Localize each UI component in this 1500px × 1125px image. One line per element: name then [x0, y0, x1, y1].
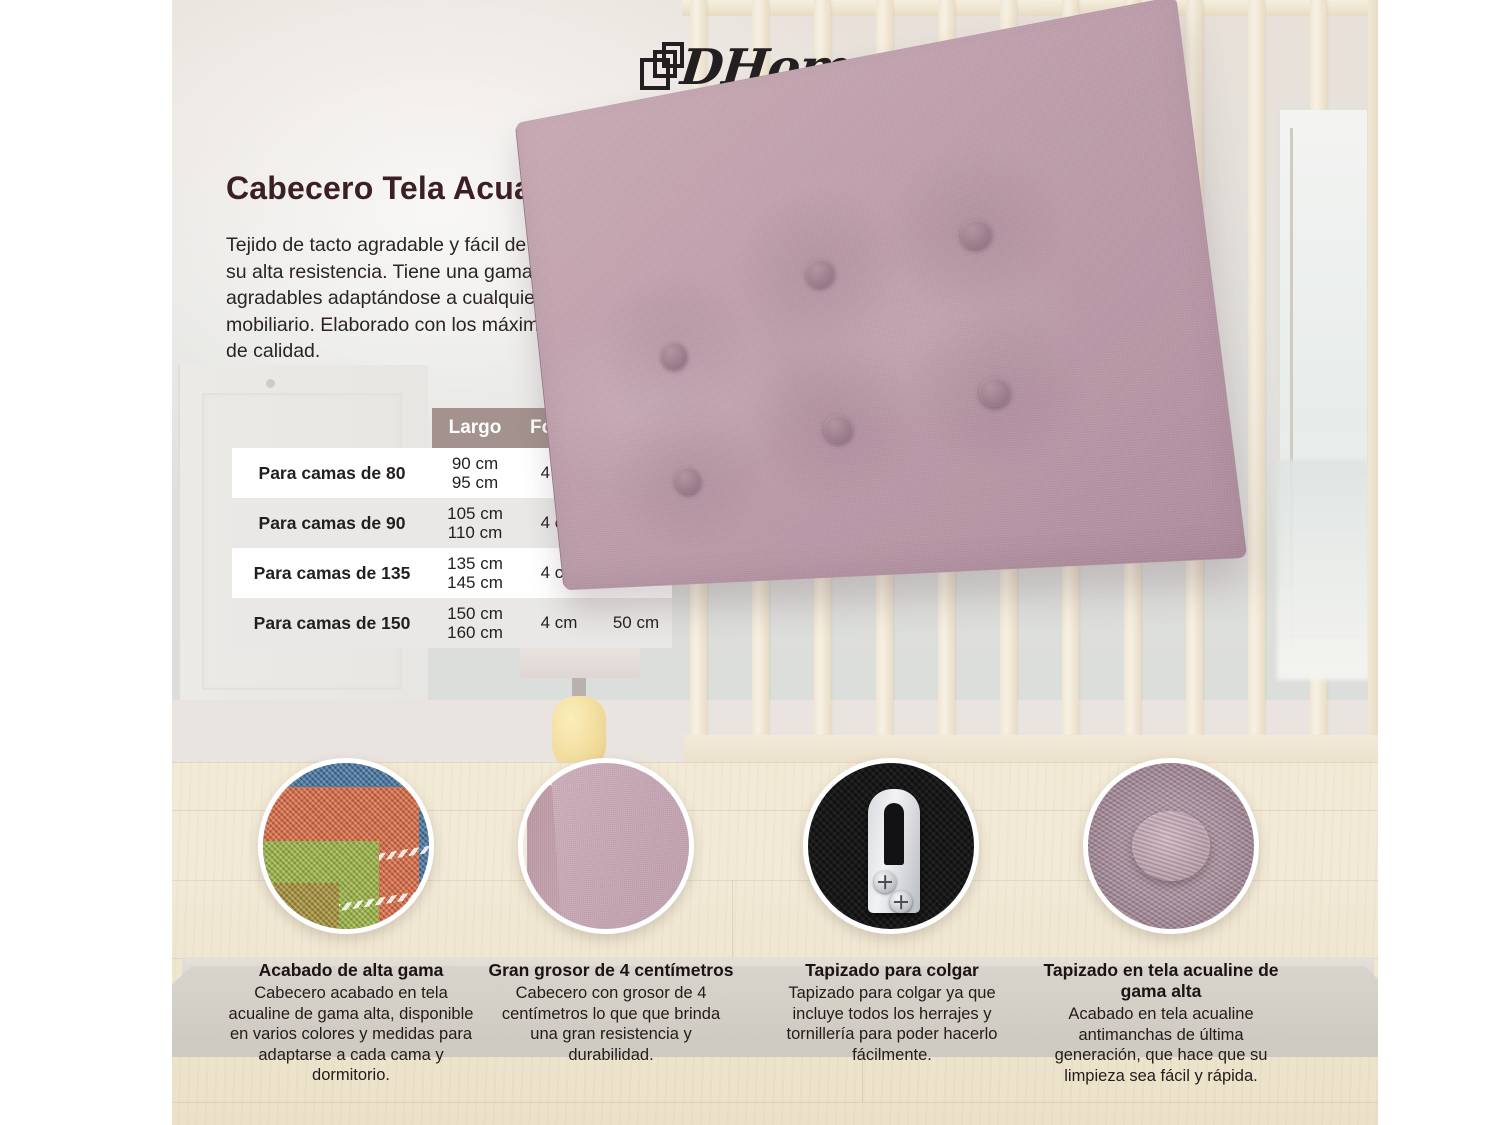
crib-slat: [1062, 0, 1079, 775]
largo-line-1: 90 cm: [452, 454, 498, 473]
column-header-largo: Largo: [432, 417, 518, 439]
crib-slat: [690, 0, 707, 775]
crib-slat: [938, 0, 955, 775]
thickness-corner-icon: [518, 758, 694, 934]
overlapping-squares-icon: [640, 42, 671, 92]
screw-icon: [890, 891, 912, 913]
cell-alto: 50 cm: [600, 513, 672, 533]
cell-fondo: 4 cm: [518, 613, 600, 633]
cell-largo: 90 cm 95 cm: [432, 454, 518, 492]
floor-plank-line: [172, 1102, 1378, 1103]
row-label: Para camas de 135: [232, 563, 432, 584]
crib-slat: [752, 0, 769, 775]
feature-text: Acabado en tela acualine antimanchas de …: [1035, 1004, 1287, 1086]
feature-title: Tapizado para colgar: [772, 960, 1012, 981]
largo-line-2: 160 cm: [447, 623, 503, 642]
door-knob-icon: [266, 379, 275, 388]
row-label: Para camas de 90: [232, 513, 432, 534]
largo-line-1: 135 cm: [447, 554, 503, 573]
floor-plank-seam: [732, 880, 733, 958]
crib-slat: [1124, 0, 1141, 775]
wall-bracket-icon: [803, 758, 979, 934]
feature-caption-3: Tapizado para colgar Tapizado para colga…: [772, 960, 1012, 1065]
column-header-fondo: Fondo: [518, 417, 600, 439]
row-label: Para camas de 80: [232, 463, 432, 484]
crib-rail: [682, 0, 1378, 16]
table-body: Para camas de 80 90 cm 95 cm 4 cm 50 cm …: [232, 448, 672, 648]
cell-alto: 50 cm: [600, 563, 672, 583]
feature-caption-1: Acabado de alta gama Cabecero acabado en…: [225, 960, 477, 1086]
cell-fondo: 4 cm: [518, 563, 600, 583]
largo-line-2: 145 cm: [447, 573, 503, 592]
page-title: Cabecero Tela Acualine: [226, 170, 588, 207]
brand-name: DHome: [678, 43, 883, 92]
feature-text: Tapizado para colgar ya que incluye todo…: [772, 983, 1012, 1065]
crib-slat: [1248, 0, 1265, 775]
cell-largo: 135 cm 145 cm: [432, 554, 518, 592]
table-row: Para camas de 135 135 cm 145 cm 4 cm 50 …: [232, 548, 672, 598]
swatch-olive: [258, 883, 339, 934]
metal-bracket: [868, 789, 920, 913]
largo-line-2: 95 cm: [452, 473, 498, 492]
feature-text: Cabecero con grosor de 4 centímetros lo …: [487, 983, 735, 1065]
crib-slats: [682, 0, 1378, 775]
background-kitchen-blur: [1277, 460, 1369, 680]
table-row: Para camas de 80 90 cm 95 cm 4 cm 50 cm: [232, 448, 672, 498]
table-row: Para camas de 90 105 cm 110 cm 4 cm 50 c…: [232, 498, 672, 548]
cell-largo: 150 cm 160 cm: [432, 604, 518, 642]
table-header-row: Largo Fondo Alto: [432, 408, 672, 448]
brand-logo: DHome: [640, 32, 880, 102]
largo-line-1: 150 cm: [447, 604, 503, 623]
feature-title: Acabado de alta gama: [225, 960, 477, 981]
crib-slat: [1186, 0, 1203, 775]
crib-slat: [814, 0, 831, 775]
table-row: Para camas de 150 150 cm 160 cm 4 cm 50 …: [232, 598, 672, 648]
feature-caption-4: Tapizado en tela acualine de gama alta A…: [1035, 960, 1287, 1086]
cell-fondo: 4 cm: [518, 463, 600, 483]
infographic-page: DHome Cabecero Tela Acualine Tejido de t…: [0, 0, 1500, 1125]
cell-largo: 105 cm 110 cm: [432, 504, 518, 542]
tufted-button-macro-icon: [1083, 758, 1259, 934]
crib-slat: [1000, 0, 1017, 775]
screw-icon: [874, 871, 896, 893]
crib-slat: [876, 0, 893, 775]
cell-alto: 50 cm: [600, 613, 672, 633]
product-description: Tejido de tacto agradable y fácil de lim…: [226, 232, 682, 365]
largo-line-2: 110 cm: [448, 523, 503, 542]
bracket-keyhole-slot: [884, 803, 904, 865]
fabric-swatches-icon: [258, 758, 434, 934]
feature-caption-2: Gran grosor de 4 centímetros Cabecero co…: [487, 960, 735, 1065]
row-label: Para camas de 150: [232, 613, 432, 634]
cell-fondo: 4 cm: [518, 513, 600, 533]
column-header-alto: Alto: [600, 417, 672, 439]
feature-title: Gran grosor de 4 centímetros: [487, 960, 735, 981]
thickness-front-face: [550, 758, 694, 934]
cell-alto: 50 cm: [600, 463, 672, 483]
largo-line-1: 105 cm: [447, 504, 503, 523]
feature-title: Tapizado en tela acualine de gama alta: [1035, 960, 1287, 1002]
feature-text: Cabecero acabado en tela acualine de gam…: [225, 983, 477, 1086]
covered-button: [1132, 811, 1210, 881]
